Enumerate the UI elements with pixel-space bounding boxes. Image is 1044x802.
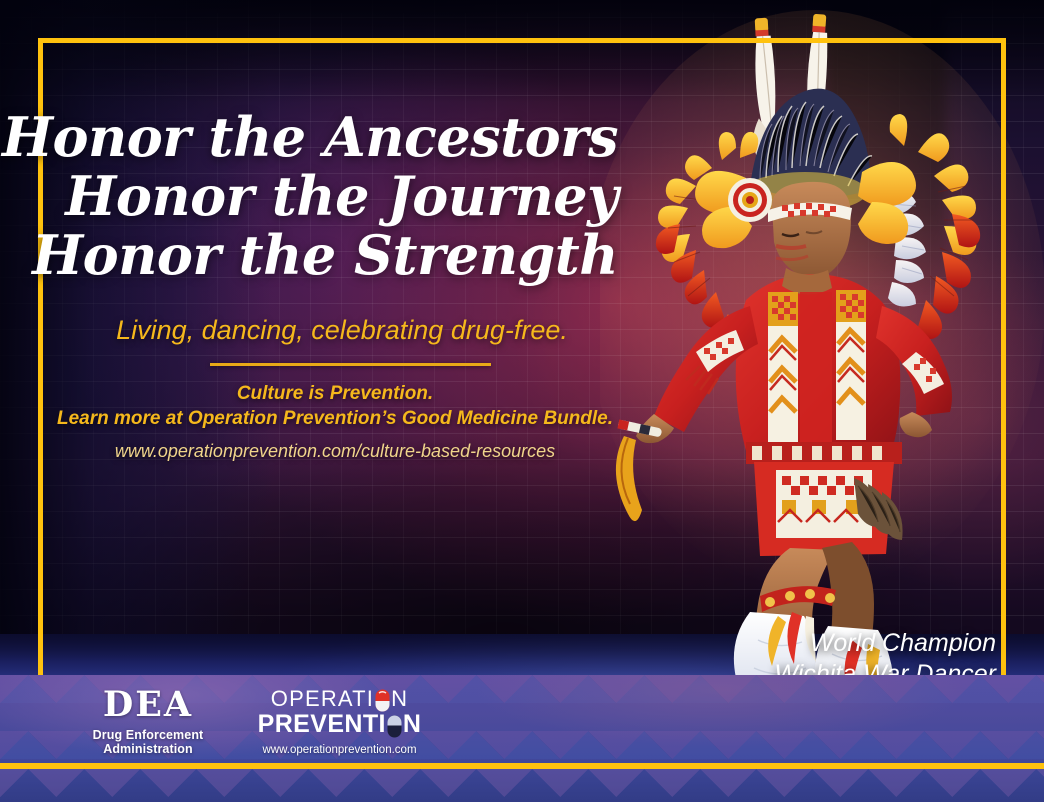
headline-line-3: Honor the Strength — [0, 226, 618, 285]
page-title: Honor the Ancestors Honor the Journey Ho… — [0, 108, 660, 285]
operation-text: OPERATI — [271, 688, 374, 710]
poster: Honor the Ancestors Honor the Journey Ho… — [0, 0, 1044, 802]
bottom-pattern-strip — [0, 769, 1044, 802]
operation-prevention-logo[interactable]: OPERATI N PREVENTI — [252, 687, 427, 756]
bottom-diamond-pattern — [0, 769, 1044, 802]
operation-prevention-line-1: OPERATI N — [252, 687, 427, 710]
logo-row: DEA Drug Enforcement Administration OPER… — [0, 675, 1044, 763]
dark-capsule-pill-icon — [387, 715, 402, 738]
dancer-torso — [736, 268, 901, 458]
dea-logo[interactable]: DEA Drug Enforcement Administration — [48, 687, 248, 756]
subhead-block: Culture is Prevention. Learn more at Ope… — [0, 381, 660, 432]
headline-line-1: Honor the Ancestors — [0, 108, 618, 167]
dea-wordmark: DEA — [48, 687, 248, 722]
resource-url[interactable]: www.operationprevention.com/culture-base… — [0, 441, 660, 462]
subhead-line-1: Culture is Prevention. — [10, 381, 660, 406]
operation-text-tail: N — [391, 688, 408, 710]
headline-copy-block: Honor the Ancestors Honor the Journey Ho… — [0, 0, 660, 462]
operation-prevention-line-2: PREVENTI N — [252, 712, 427, 737]
sponsor-logo-bar: DEA Drug Enforcement Administration OPER… — [0, 675, 1044, 763]
caption-line-1: World Champion — [774, 628, 996, 659]
headline-line-2: Honor the Journey — [0, 167, 618, 226]
dea-full-name: Drug Enforcement Administration — [48, 728, 248, 756]
prevention-text: PREVENTI — [258, 712, 386, 737]
operation-prevention-url[interactable]: www.operationprevention.com — [252, 744, 427, 756]
red-capsule-pill-icon — [375, 689, 390, 712]
subhead-line-2: Learn more at Operation Prevention’s Goo… — [10, 406, 660, 431]
prevention-text-tail: N — [403, 712, 421, 737]
tagline: Living, dancing, celebrating drug-free. — [0, 315, 660, 346]
gold-divider-rule — [210, 363, 491, 366]
beaded-rosette — [728, 178, 772, 222]
